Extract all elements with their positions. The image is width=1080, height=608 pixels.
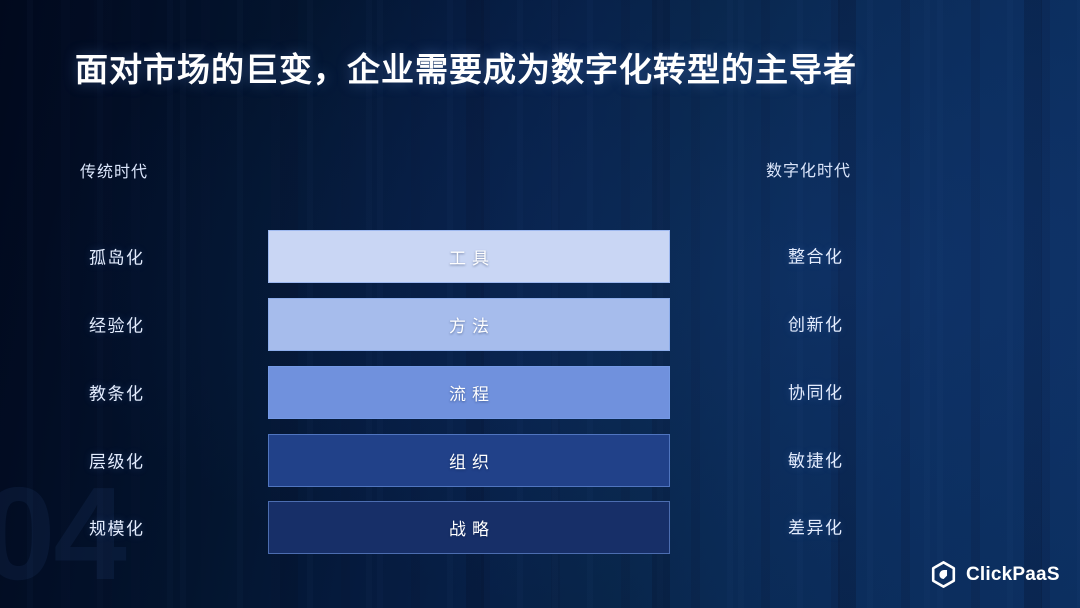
brand-logo: ClickPaaS: [930, 561, 1060, 588]
left-label-row-2: 经验化: [89, 312, 145, 337]
right-label-row-5: 差异化: [788, 514, 844, 539]
center-bar-label-row-2: 方法: [443, 312, 495, 337]
presentation-slide: 04 面对市场的巨变，企业需要成为数字化转型的主导者 传统时代 数字化时代 孤岛…: [0, 0, 1080, 608]
column-header-traditional: 传统时代: [80, 158, 148, 182]
center-bar-row-3[interactable]: 流程: [268, 366, 670, 419]
clickpaas-hexagon-logo-icon: [930, 561, 957, 588]
center-bar-row-5[interactable]: 战略: [268, 501, 670, 554]
center-bar-row-2[interactable]: 方法: [268, 298, 670, 351]
right-label-row-1: 整合化: [788, 243, 844, 268]
right-label-row-4: 敏捷化: [788, 447, 844, 472]
center-bar-row-1[interactable]: 工具: [268, 230, 670, 283]
left-label-row-3: 教条化: [89, 380, 145, 405]
right-label-row-3: 协同化: [788, 379, 844, 404]
center-bar-label-row-5: 战略: [443, 515, 495, 540]
center-bar-label-row-1: 工具: [443, 244, 495, 269]
left-label-row-5: 规模化: [89, 515, 145, 540]
right-label-row-2: 创新化: [788, 311, 844, 336]
center-bar-row-4[interactable]: 组织: [268, 434, 670, 487]
left-label-row-4: 层级化: [89, 448, 145, 473]
center-bar-label-row-4: 组织: [443, 448, 495, 473]
center-bar-label-row-3: 流程: [443, 380, 495, 405]
brand-name: ClickPaaS: [966, 565, 1060, 584]
column-header-digital: 数字化时代: [766, 157, 851, 181]
left-label-row-1: 孤岛化: [89, 244, 145, 269]
page-title: 面对市场的巨变，企业需要成为数字化转型的主导者: [75, 43, 857, 91]
